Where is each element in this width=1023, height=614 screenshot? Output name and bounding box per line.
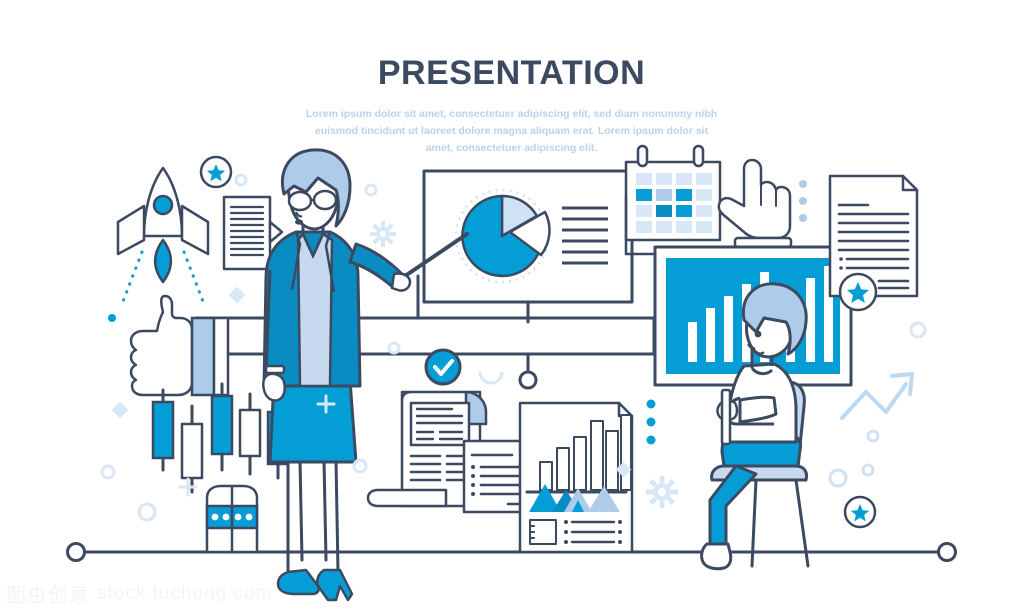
star-badge-right	[845, 497, 875, 527]
report-page	[520, 403, 632, 552]
gear-icon-bottom	[646, 476, 678, 508]
candlestick-chart	[153, 384, 288, 492]
rocket-icon	[118, 168, 208, 304]
gear-icon-small	[370, 221, 396, 247]
scene-artwork: .ink{stroke:#3c4a61;} .st3{stroke:#3c4a6…	[0, 0, 1023, 614]
illustration-canvas: .ink{stroke:#3c4a61;} .st3{stroke:#3c4a6…	[0, 0, 1023, 614]
star-badge-icon	[201, 157, 231, 187]
pointing-hand-icon	[719, 160, 791, 247]
check-circle-badge	[426, 350, 460, 384]
certificate-document	[830, 176, 917, 310]
watermark-en: stock.tuchong.com	[97, 583, 272, 605]
thumbs-up-icon	[131, 296, 228, 395]
bench-cabinet	[207, 486, 257, 552]
watermark: 图虫创意 stock.tuchong.com	[6, 579, 272, 608]
ground-line	[68, 544, 956, 561]
watermark-cn: 图虫创意	[6, 579, 90, 608]
whiteboard-pie-chart	[424, 171, 632, 322]
wall-calendar	[626, 146, 720, 254]
